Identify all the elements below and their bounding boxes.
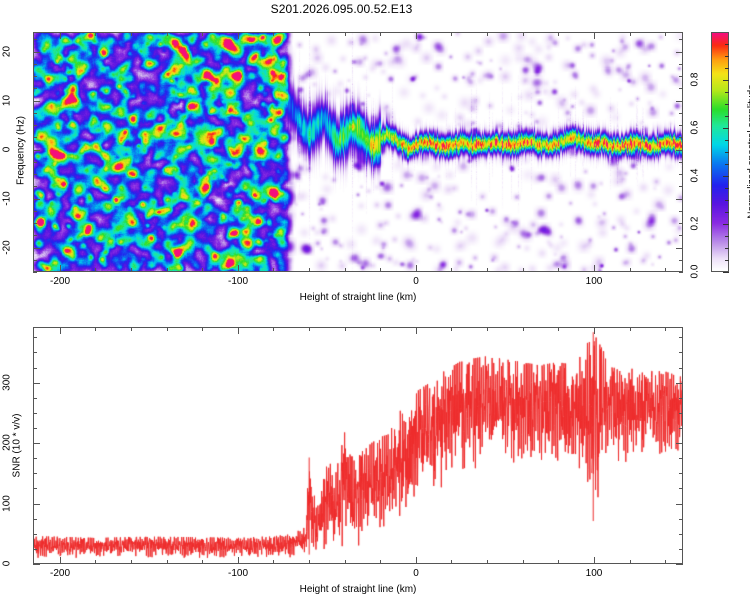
colorbar-minor-tick bbox=[725, 152, 729, 153]
tick-mark bbox=[558, 560, 559, 564]
tick-mark bbox=[416, 265, 417, 272]
tick-mark bbox=[679, 174, 683, 175]
tick-mark bbox=[33, 211, 37, 212]
tick-mark bbox=[679, 235, 683, 236]
y-tick-label: 0 bbox=[2, 130, 13, 170]
colorbar-minor-tick bbox=[725, 248, 729, 249]
tick-mark bbox=[33, 398, 37, 399]
tick-mark bbox=[416, 557, 417, 564]
x-tick-label: -200 bbox=[30, 276, 90, 287]
tick-mark bbox=[676, 443, 683, 444]
tick-mark bbox=[33, 137, 37, 138]
tick-mark bbox=[60, 557, 61, 564]
tick-mark bbox=[309, 560, 310, 564]
colorbar-minor-tick bbox=[725, 188, 729, 189]
tick-mark bbox=[630, 32, 631, 36]
tick-mark bbox=[665, 560, 666, 564]
tick-mark bbox=[33, 337, 37, 338]
figure-root: S201.2026.095.00.52.E13 -200-1000100 -20… bbox=[0, 0, 750, 600]
x-tick-label: -200 bbox=[30, 568, 90, 579]
tick-mark bbox=[33, 272, 37, 273]
tick-mark bbox=[451, 32, 452, 36]
spectrogram-x-axis-label: Height of straight line (km) bbox=[208, 292, 508, 303]
colorbar-tick bbox=[723, 272, 729, 273]
spectrogram-y-axis-label: Frequency (Hz) bbox=[16, 91, 27, 211]
colorbar-minor-tick bbox=[725, 104, 729, 105]
tick-mark bbox=[309, 32, 310, 36]
tick-mark bbox=[380, 32, 381, 36]
colorbar-tick bbox=[723, 224, 729, 225]
tick-mark bbox=[487, 268, 488, 272]
tick-mark bbox=[95, 32, 96, 36]
tick-mark bbox=[558, 268, 559, 272]
tick-mark bbox=[95, 268, 96, 272]
tick-mark bbox=[167, 268, 168, 272]
tick-mark bbox=[416, 32, 417, 39]
tick-mark bbox=[679, 398, 683, 399]
y-tick-label: -10 bbox=[2, 179, 13, 219]
tick-mark bbox=[33, 125, 37, 126]
tick-mark bbox=[33, 352, 37, 353]
tick-mark bbox=[630, 327, 631, 331]
tick-mark bbox=[679, 428, 683, 429]
tick-mark bbox=[33, 101, 40, 102]
tick-mark bbox=[345, 560, 346, 564]
tick-mark bbox=[202, 32, 203, 36]
colorbar-minor-tick bbox=[725, 140, 729, 141]
x-tick-label: 100 bbox=[564, 276, 624, 287]
tick-mark bbox=[679, 125, 683, 126]
tick-mark bbox=[679, 211, 683, 212]
tick-mark bbox=[345, 32, 346, 36]
tick-mark bbox=[679, 186, 683, 187]
x-tick-label: 0 bbox=[386, 568, 446, 579]
colorbar-minor-tick bbox=[725, 212, 729, 213]
tick-mark bbox=[679, 88, 683, 89]
tick-mark bbox=[594, 557, 595, 564]
colorbar-tick-label: 0.2 bbox=[690, 204, 701, 244]
tick-mark bbox=[33, 88, 37, 89]
tick-mark bbox=[33, 428, 37, 429]
tick-mark bbox=[676, 383, 683, 384]
snr-plot-area bbox=[33, 327, 683, 564]
tick-mark bbox=[33, 150, 40, 151]
tick-mark bbox=[380, 560, 381, 564]
tick-mark bbox=[273, 560, 274, 564]
tick-mark bbox=[676, 150, 683, 151]
colorbar-minor-tick bbox=[725, 92, 729, 93]
tick-mark bbox=[131, 268, 132, 272]
tick-mark bbox=[309, 327, 310, 331]
tick-mark bbox=[679, 413, 683, 414]
tick-mark bbox=[238, 557, 239, 564]
tick-mark bbox=[33, 235, 37, 236]
tick-mark bbox=[451, 560, 452, 564]
colorbar-tick-label: 0.0 bbox=[690, 252, 701, 292]
tick-mark bbox=[33, 52, 40, 53]
tick-mark bbox=[33, 488, 37, 489]
tick-mark bbox=[33, 223, 37, 224]
x-tick-label: -100 bbox=[208, 568, 268, 579]
tick-mark bbox=[33, 174, 37, 175]
tick-mark bbox=[665, 268, 666, 272]
y-tick-label: 0 bbox=[2, 544, 13, 584]
tick-mark bbox=[594, 265, 595, 272]
tick-mark bbox=[202, 327, 203, 331]
tick-mark bbox=[679, 549, 683, 550]
tick-mark bbox=[679, 473, 683, 474]
x-tick-label: 0 bbox=[386, 276, 446, 287]
tick-mark bbox=[131, 560, 132, 564]
tick-mark bbox=[33, 260, 37, 261]
tick-mark bbox=[523, 327, 524, 331]
colorbar-tick-label: 0.6 bbox=[690, 108, 701, 148]
tick-mark bbox=[558, 32, 559, 36]
tick-mark bbox=[679, 368, 683, 369]
colorbar-minor-tick bbox=[725, 200, 729, 201]
tick-mark bbox=[679, 260, 683, 261]
tick-mark bbox=[487, 327, 488, 331]
tick-mark bbox=[676, 199, 683, 200]
tick-mark bbox=[679, 337, 683, 338]
y-tick-label: -20 bbox=[2, 228, 13, 268]
tick-mark bbox=[60, 32, 61, 39]
tick-mark bbox=[523, 560, 524, 564]
tick-mark bbox=[665, 32, 666, 36]
tick-mark bbox=[131, 327, 132, 331]
tick-mark bbox=[33, 443, 40, 444]
colorbar-minor-tick bbox=[725, 116, 729, 117]
tick-mark bbox=[131, 32, 132, 36]
tick-mark bbox=[167, 560, 168, 564]
tick-mark bbox=[33, 162, 37, 163]
colorbar-minor-tick bbox=[725, 260, 729, 261]
tick-mark bbox=[594, 32, 595, 39]
tick-mark bbox=[679, 64, 683, 65]
tick-mark bbox=[679, 162, 683, 163]
tick-mark bbox=[523, 32, 524, 36]
tick-mark bbox=[167, 32, 168, 36]
tick-mark bbox=[416, 327, 417, 334]
spectrogram-image bbox=[34, 33, 682, 271]
tick-mark bbox=[33, 248, 40, 249]
tick-mark bbox=[202, 268, 203, 272]
x-tick-label: -100 bbox=[208, 276, 268, 287]
tick-mark bbox=[33, 473, 37, 474]
tick-mark bbox=[33, 113, 37, 114]
tick-mark bbox=[60, 327, 61, 334]
tick-mark bbox=[273, 32, 274, 36]
tick-mark bbox=[676, 504, 683, 505]
tick-mark bbox=[33, 199, 40, 200]
tick-mark bbox=[95, 560, 96, 564]
y-tick-label: 10 bbox=[2, 81, 13, 121]
tick-mark bbox=[33, 534, 37, 535]
colorbar-minor-tick bbox=[725, 44, 729, 45]
colorbar-minor-tick bbox=[725, 68, 729, 69]
tick-mark bbox=[679, 137, 683, 138]
y-tick-label: 20 bbox=[2, 32, 13, 72]
tick-mark bbox=[487, 560, 488, 564]
tick-mark bbox=[676, 564, 683, 565]
tick-mark bbox=[95, 327, 96, 331]
tick-mark bbox=[451, 268, 452, 272]
colorbar-tick bbox=[723, 80, 729, 81]
tick-mark bbox=[238, 265, 239, 272]
tick-mark bbox=[679, 352, 683, 353]
snr-y-axis-label: SNR (10 * v/v) bbox=[12, 386, 23, 506]
tick-mark bbox=[273, 327, 274, 331]
tick-mark bbox=[380, 327, 381, 331]
tick-mark bbox=[345, 327, 346, 331]
colorbar-minor-tick bbox=[725, 164, 729, 165]
x-tick-label: 100 bbox=[564, 568, 624, 579]
tick-mark bbox=[33, 504, 40, 505]
tick-mark bbox=[345, 268, 346, 272]
tick-mark bbox=[33, 519, 37, 520]
tick-mark bbox=[33, 413, 37, 414]
snr-x-axis-label: Height of straight line (km) bbox=[208, 584, 508, 595]
tick-mark bbox=[679, 488, 683, 489]
tick-mark bbox=[33, 76, 37, 77]
tick-mark bbox=[33, 564, 40, 565]
tick-mark bbox=[487, 32, 488, 36]
colorbar-tick-label: 0.4 bbox=[690, 156, 701, 196]
tick-mark bbox=[676, 248, 683, 249]
tick-mark bbox=[679, 76, 683, 77]
tick-mark bbox=[167, 327, 168, 331]
colorbar-label: Normalized spectral amplitude bbox=[747, 72, 750, 232]
tick-mark bbox=[630, 268, 631, 272]
colorbar-tick-label: 0.8 bbox=[690, 60, 701, 100]
tick-mark bbox=[676, 101, 683, 102]
tick-mark bbox=[630, 560, 631, 564]
tick-mark bbox=[665, 327, 666, 331]
tick-mark bbox=[309, 268, 310, 272]
tick-mark bbox=[238, 327, 239, 334]
tick-mark bbox=[238, 32, 239, 39]
tick-mark bbox=[594, 327, 595, 334]
tick-mark bbox=[60, 265, 61, 272]
spectrogram-plot-area bbox=[33, 32, 683, 272]
tick-mark bbox=[33, 383, 40, 384]
tick-mark bbox=[679, 458, 683, 459]
snr-trace bbox=[34, 328, 682, 563]
colorbar-minor-tick bbox=[725, 176, 729, 177]
tick-mark bbox=[679, 272, 683, 273]
colorbar-minor-tick bbox=[725, 236, 729, 237]
tick-mark bbox=[558, 327, 559, 331]
tick-mark bbox=[523, 268, 524, 272]
tick-mark bbox=[451, 327, 452, 331]
tick-mark bbox=[679, 39, 683, 40]
tick-mark bbox=[380, 268, 381, 272]
tick-mark bbox=[33, 458, 37, 459]
tick-mark bbox=[273, 268, 274, 272]
tick-mark bbox=[33, 39, 37, 40]
tick-mark bbox=[33, 186, 37, 187]
tick-mark bbox=[33, 64, 37, 65]
tick-mark bbox=[33, 368, 37, 369]
colorbar-minor-tick bbox=[725, 56, 729, 57]
colorbar-tick bbox=[723, 128, 729, 129]
tick-mark bbox=[679, 519, 683, 520]
tick-mark bbox=[33, 549, 37, 550]
tick-mark bbox=[679, 534, 683, 535]
tick-mark bbox=[679, 113, 683, 114]
tick-mark bbox=[676, 52, 683, 53]
tick-mark bbox=[202, 560, 203, 564]
tick-mark bbox=[679, 223, 683, 224]
figure-title: S201.2026.095.00.52.E13 bbox=[0, 2, 683, 16]
